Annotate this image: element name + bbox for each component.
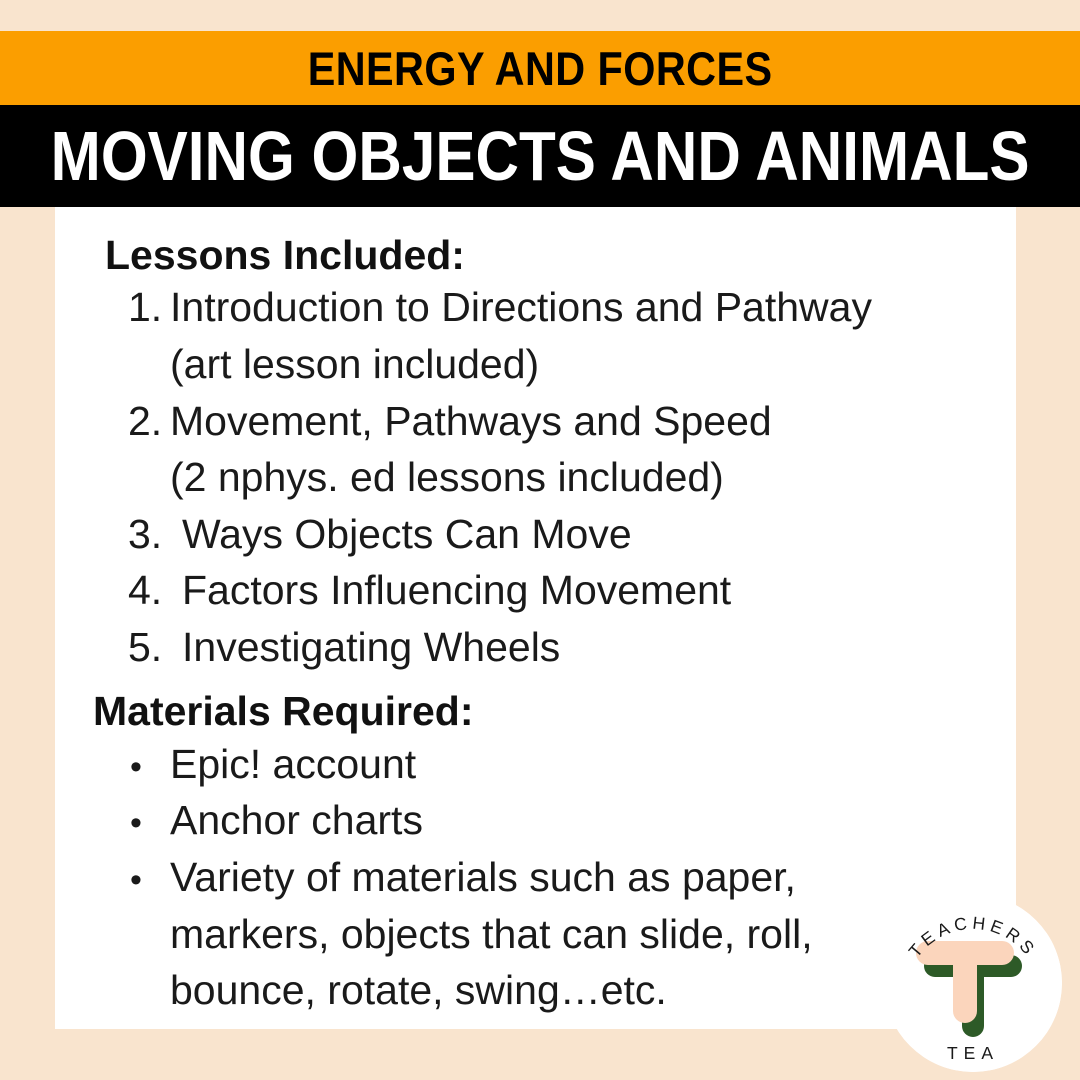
list-item-label: Movement, Pathways and Speed [170, 393, 1016, 450]
logo-bottom-text: TEA [947, 1043, 999, 1063]
list-item-label: Factors Influencing Movement [182, 562, 1016, 619]
list-item-marker: 2. [55, 393, 170, 450]
materials-list: • Epic! account • Anchor charts • Variet… [55, 736, 1016, 1019]
bullet-icon: • [55, 750, 170, 784]
list-item: 3. Ways Objects Can Move [55, 506, 1016, 563]
list-item-continuation-label: bounce, rotate, swing…etc. [170, 962, 667, 1019]
title-banner: MOVING OBJECTS AND ANIMALS [0, 105, 1080, 207]
list-item-continuation: markers, objects that can slide, roll, [55, 906, 1016, 963]
lessons-heading: Lessons Included: [55, 231, 1016, 279]
list-item: • Anchor charts [55, 792, 1016, 849]
list-item: 5. Investigating Wheels [55, 619, 1016, 676]
list-item-label: Variety of materials such as paper, [170, 849, 796, 906]
list-item: • Variety of materials such as paper, [55, 849, 1016, 906]
list-item-continuation: (2 nphys. ed lessons included) [55, 449, 1016, 506]
list-item: 4. Factors Influencing Movement [55, 562, 1016, 619]
list-item-label: Epic! account [170, 736, 416, 793]
list-item-continuation-label: (2 nphys. ed lessons included) [170, 449, 724, 506]
list-item-continuation-label: (art lesson included) [170, 336, 539, 393]
list-item: 2. Movement, Pathways and Speed [55, 393, 1016, 450]
bullet-icon: • [55, 806, 170, 840]
list-item-continuation-label: markers, objects that can slide, roll, [170, 906, 813, 963]
content-card: Lessons Included: 1. Introduction to Dir… [55, 207, 1016, 1029]
poster-title: MOVING OBJECTS AND ANIMALS [51, 121, 1030, 191]
eyebrow-banner: ENERGY AND FORCES [0, 31, 1080, 105]
list-item-label: Investigating Wheels [182, 619, 1016, 676]
eyebrow-title: ENERGY AND FORCES [308, 45, 773, 92]
list-item-continuation: bounce, rotate, swing…etc. [55, 962, 1016, 1019]
poster-canvas: ENERGY AND FORCES MOVING OBJECTS AND ANI… [0, 0, 1080, 1080]
list-item: • Epic! account [55, 736, 1016, 793]
list-item-marker: 5. [55, 619, 182, 676]
list-item-continuation: (art lesson included) [55, 336, 1016, 393]
list-item: 1. Introduction to Directions and Pathwa… [55, 279, 1016, 336]
materials-heading: Materials Required: [55, 687, 1016, 735]
list-item-label: Anchor charts [170, 792, 423, 849]
list-item-marker: 3. [55, 506, 182, 563]
list-item-marker: 1. [55, 279, 170, 336]
list-item-marker: 4. [55, 562, 182, 619]
lessons-list: 1. Introduction to Directions and Pathwa… [55, 279, 1016, 675]
logo-graphic: TEACHERS TEA [884, 894, 1062, 1072]
list-item-label: Introduction to Directions and Pathway [170, 279, 1016, 336]
bullet-icon: • [55, 863, 170, 897]
list-item-label: Ways Objects Can Move [182, 506, 1016, 563]
teachers-tea-logo: TEACHERS TEA [884, 894, 1062, 1072]
